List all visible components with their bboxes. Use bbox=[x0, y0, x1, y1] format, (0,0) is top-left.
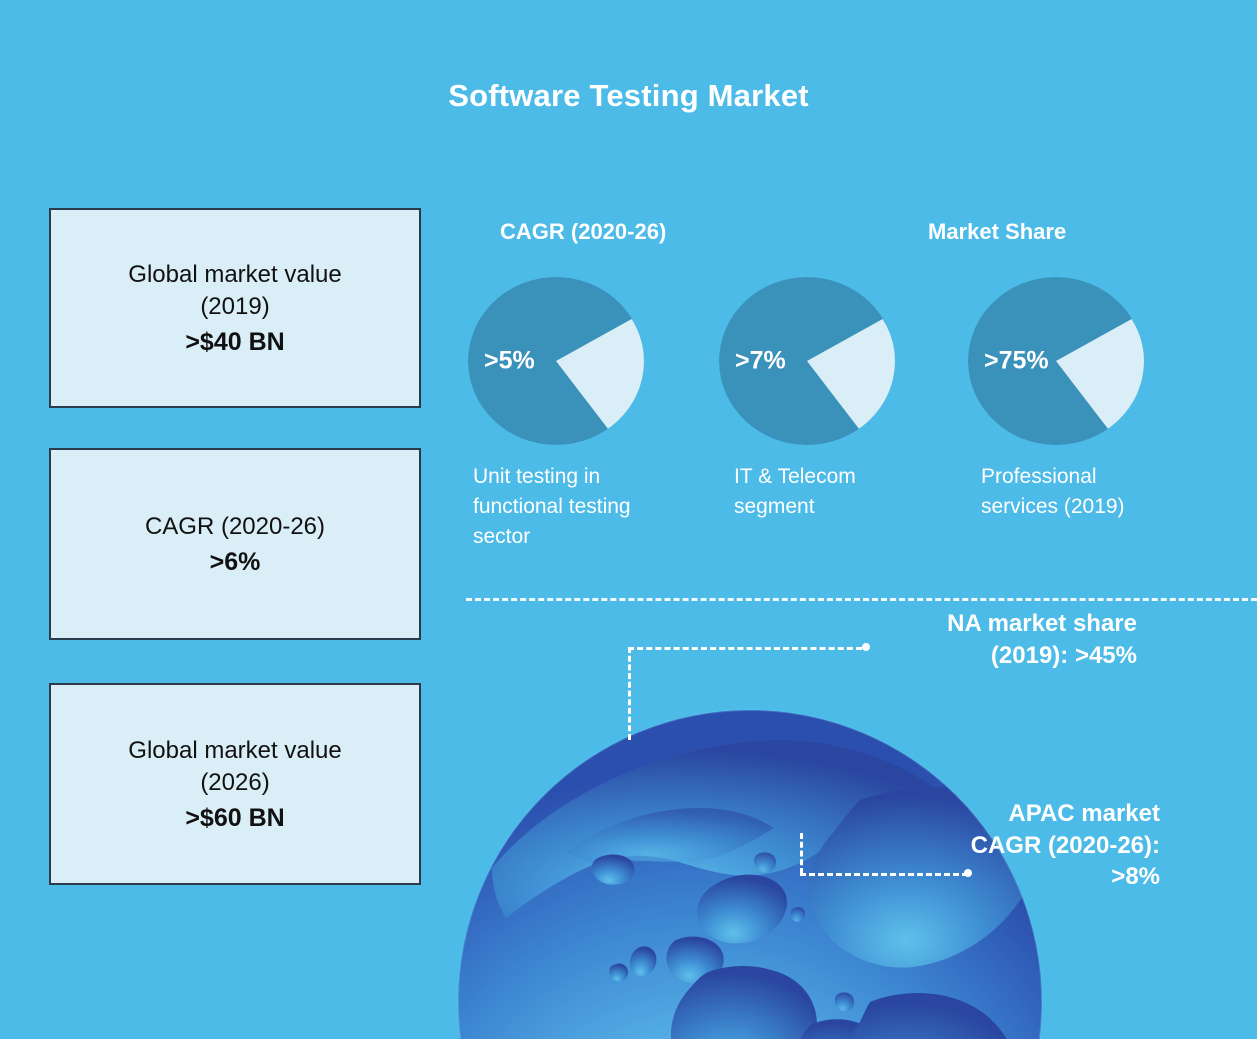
stat-box-value: >6% bbox=[210, 548, 261, 577]
stat-box-label: Global market value (2019) bbox=[128, 259, 341, 323]
stat-box-label: Global market value (2026) bbox=[128, 735, 341, 799]
section-divider bbox=[466, 598, 1257, 601]
pie-chart-professional-services: >75% bbox=[968, 277, 1144, 445]
pie-caption-professional-services: Professional services (2019) bbox=[981, 462, 1211, 522]
pie-caption-unit-testing: Unit testing in functional testing secto… bbox=[473, 462, 708, 551]
page-title: Software Testing Market bbox=[0, 78, 1257, 114]
stat-box-global-value-2019: Global market value (2019) >$40 BN bbox=[49, 208, 421, 408]
stat-box-value: >$60 BN bbox=[185, 804, 284, 833]
infographic-canvas: Software Testing Market Global market va… bbox=[0, 0, 1257, 1039]
stat-box-value: >$40 BN bbox=[185, 328, 284, 357]
stat-box-global-value-2026: Global market value (2026) >$60 BN bbox=[49, 683, 421, 885]
pie-slices bbox=[468, 277, 644, 445]
pie-slices bbox=[968, 277, 1144, 445]
stat-box-label: CAGR (2020-26) bbox=[145, 511, 325, 543]
pie-chart-it-telecom: >7% bbox=[719, 277, 895, 445]
na-connector-horizontal bbox=[628, 647, 862, 650]
callout-na-market-share: NA market share (2019): >45% bbox=[860, 608, 1137, 671]
pie-chart-unit-testing: >5% bbox=[468, 277, 644, 445]
section-header-cagr: CAGR (2020-26) bbox=[500, 219, 666, 245]
na-connector-vertical bbox=[628, 647, 631, 740]
apac-connector-vertical bbox=[800, 833, 803, 874]
pie-slices bbox=[719, 277, 895, 445]
section-header-market-share: Market Share bbox=[928, 219, 1066, 245]
stat-box-cagr: CAGR (2020-26) >6% bbox=[49, 448, 421, 640]
callout-apac-cagr: APAC market CAGR (2020-26): >8% bbox=[900, 798, 1160, 893]
pie-caption-it-telecom: IT & Telecom segment bbox=[734, 462, 949, 522]
